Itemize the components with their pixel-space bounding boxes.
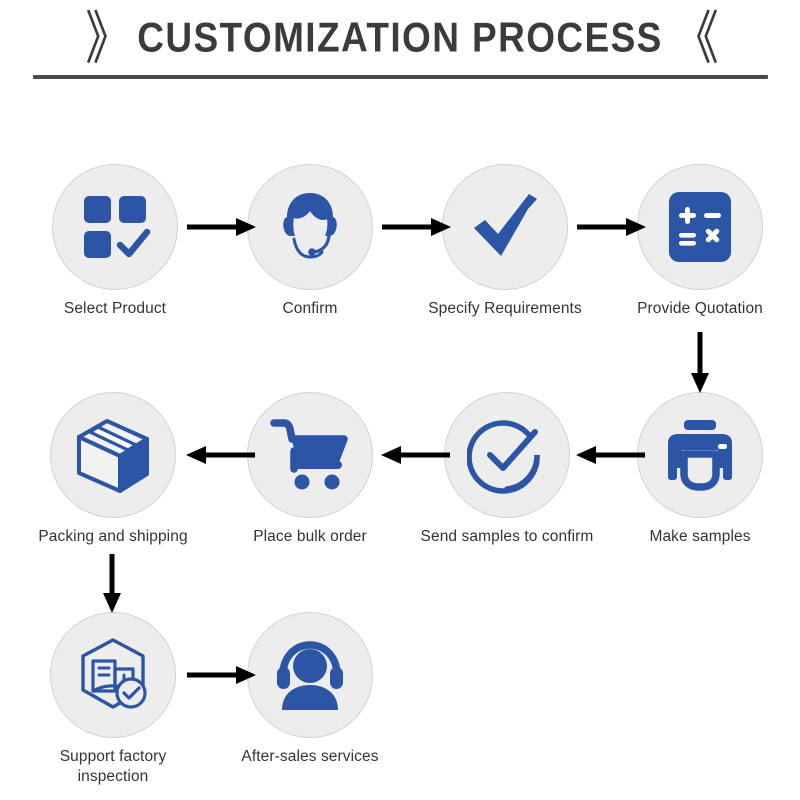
step-8-label: Packing and shipping [13, 527, 213, 547]
process-flow: Select Product Confirm [0, 0, 800, 800]
arrow-step5-to-step6 [574, 442, 646, 468]
arrow-step6-to-step7 [379, 442, 451, 468]
step-6-icon-circle [444, 392, 570, 518]
step-2-label: Confirm [230, 299, 390, 319]
step-5-icon-circle [637, 392, 763, 518]
step-1-label: Select Product [35, 299, 195, 319]
circle-check-icon [467, 415, 547, 495]
step-9-icon-circle [50, 612, 176, 738]
step-3-icon-circle [442, 164, 568, 290]
step-8-icon-circle [50, 392, 176, 518]
process-step-7[interactable]: Place bulk order [230, 392, 390, 547]
grid-check-icon [78, 190, 152, 264]
process-step-1[interactable]: Select Product [35, 164, 195, 319]
arrow-step7-to-step8 [184, 442, 256, 468]
step-7-label: Place bulk order [230, 527, 390, 547]
arrow-step1-to-step2 [186, 214, 258, 240]
arrow-step2-to-step3 [381, 214, 453, 240]
process-step-2[interactable]: Confirm [230, 164, 390, 319]
process-step-8[interactable]: Packing and shipping [33, 392, 193, 547]
step-6-label: Send samples to confirm [407, 527, 607, 547]
step-5-label: Make samples [620, 527, 780, 547]
step-2-icon-circle [247, 164, 373, 290]
arrow-step9-to-step10 [186, 662, 258, 688]
step-4-label: Provide Quotation [620, 299, 780, 319]
step-10-icon-circle [247, 612, 373, 738]
package-box-icon [72, 415, 154, 495]
arrow-step3-to-step4 [576, 214, 648, 240]
factory-inspection-icon [73, 635, 153, 715]
process-step-5[interactable]: Make samples [620, 392, 780, 547]
step-9-label: Support factory inspection [33, 747, 193, 787]
step-3-label: Specify Requirements [425, 299, 585, 319]
process-step-9[interactable]: Support factory inspection [33, 612, 193, 787]
checkmark-icon [465, 187, 545, 267]
step-10-label: After-sales services [230, 747, 390, 767]
arrow-step4-to-step5 [687, 331, 713, 395]
step-1-icon-circle [52, 164, 178, 290]
arrow-step8-to-step9 [99, 553, 125, 615]
calculator-icon [665, 189, 735, 265]
process-step-6[interactable]: Send samples to confirm [427, 392, 587, 547]
support-agent-icon [270, 187, 350, 267]
process-step-10[interactable]: After-sales services [230, 612, 390, 767]
step-4-icon-circle [637, 164, 763, 290]
process-step-3[interactable]: Specify Requirements [425, 164, 585, 319]
printer-icon [660, 416, 740, 494]
process-step-4[interactable]: Provide Quotation [620, 164, 780, 319]
step-7-icon-circle [247, 392, 373, 518]
headset-person-icon [270, 637, 350, 713]
shopping-cart-icon [270, 417, 350, 493]
